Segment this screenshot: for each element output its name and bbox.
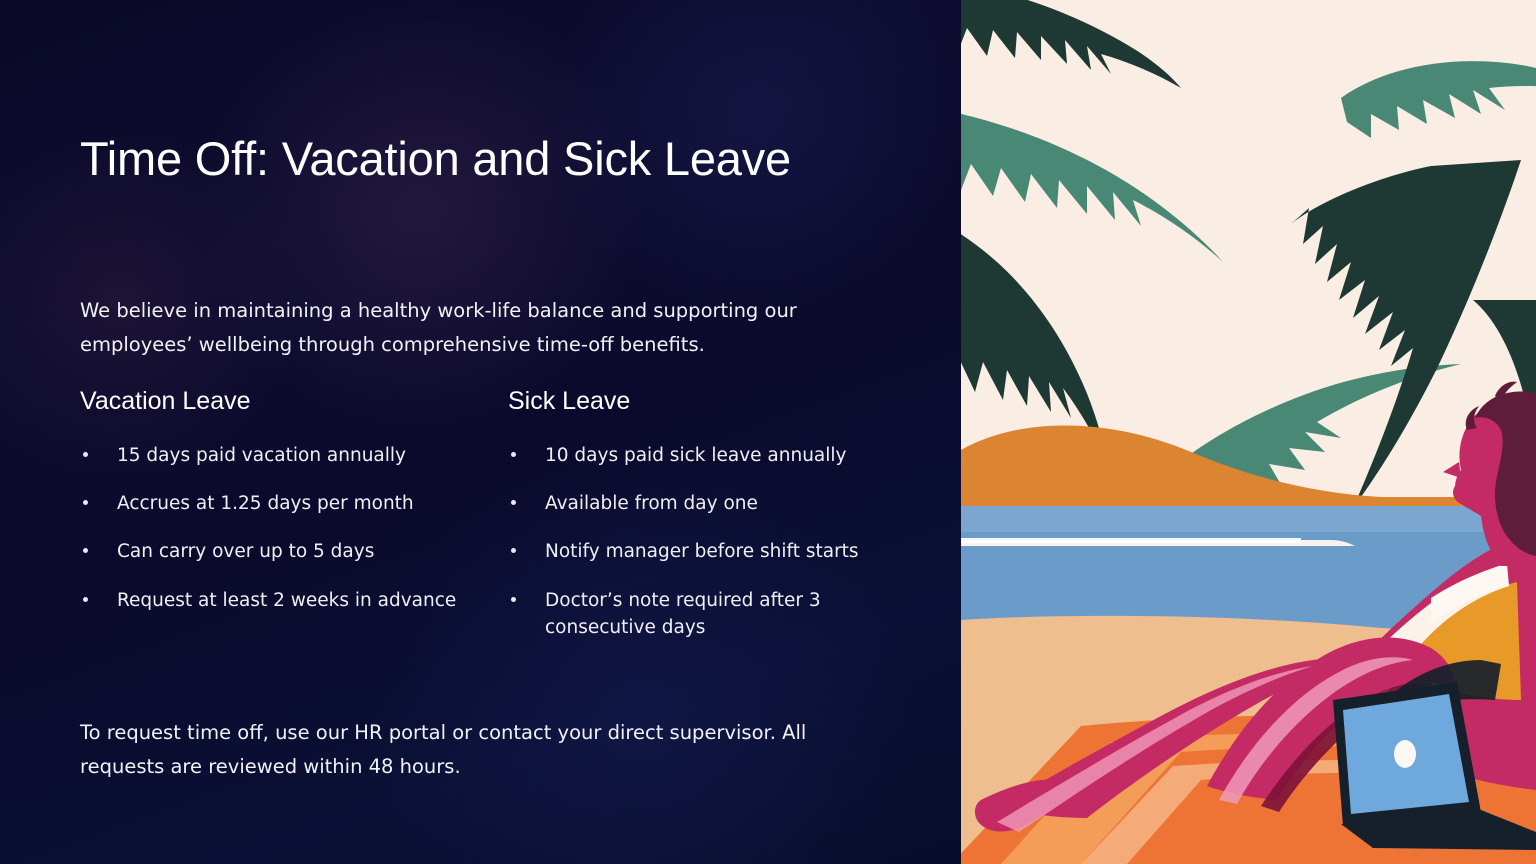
list-item-label: Request at least 2 weeks in advance	[117, 590, 456, 611]
page-title: Time Off: Vacation and Sick Leave	[80, 127, 840, 192]
intro-paragraph: We believe in maintaining a healthy work…	[80, 294, 820, 363]
bullet-dot-icon	[511, 500, 516, 505]
wave-line-thin	[961, 538, 1301, 543]
bullet-dot-icon	[511, 548, 516, 553]
list-item: Notify manager before shift starts	[508, 538, 908, 565]
bullet-dot-icon	[83, 452, 88, 457]
bullet-dot-icon	[83, 548, 88, 553]
list-item-label: Can carry over up to 5 days	[117, 541, 374, 562]
footer-note: To request time off, use our HR portal o…	[80, 716, 890, 785]
list-item-label: 15 days paid vacation annually	[117, 445, 406, 466]
beach-illustration	[961, 0, 1536, 864]
content-container: Time Off: Vacation and Sick Leave We bel…	[80, 0, 900, 864]
bullet-dot-icon	[511, 597, 516, 602]
list-item: Can carry over up to 5 days	[80, 538, 508, 565]
column-sick-leave: Sick Leave 10 days paid sick leave annua…	[508, 388, 908, 662]
column-heading-vacation: Vacation Leave	[80, 388, 508, 416]
list-item-label: Available from day one	[545, 493, 758, 514]
list-item-label: 10 days paid sick leave annually	[545, 445, 847, 466]
list-item: Request at least 2 weeks in advance	[80, 587, 508, 614]
content-panel: Time Off: Vacation and Sick Leave We bel…	[0, 0, 961, 864]
vacation-bullet-list: 15 days paid vacation annually Accrues a…	[80, 442, 508, 615]
bullet-dot-icon	[511, 452, 516, 457]
list-item: Accrues at 1.25 days per month	[80, 490, 508, 517]
leave-columns: Vacation Leave 15 days paid vacation ann…	[80, 388, 910, 662]
list-item: 15 days paid vacation annually	[80, 442, 508, 469]
list-item: 10 days paid sick leave annually	[508, 442, 908, 469]
list-item-label: Accrues at 1.25 days per month	[117, 493, 414, 514]
bullet-dot-icon	[83, 500, 88, 505]
column-heading-sick: Sick Leave	[508, 388, 908, 416]
laptop-screen-dot	[1394, 740, 1416, 768]
sick-bullet-list: 10 days paid sick leave annually Availab…	[508, 442, 908, 642]
list-item-label: Notify manager before shift starts	[545, 541, 859, 562]
sea-band-upper	[961, 506, 1536, 532]
slide: Time Off: Vacation and Sick Leave We bel…	[0, 0, 1536, 864]
list-item-label: Doctor’s note required after 3 consecuti…	[545, 590, 821, 638]
list-item: Doctor’s note required after 3 consecuti…	[508, 587, 908, 642]
list-item: Available from day one	[508, 490, 908, 517]
bullet-dot-icon	[83, 597, 88, 602]
column-vacation-leave: Vacation Leave 15 days paid vacation ann…	[80, 388, 508, 662]
